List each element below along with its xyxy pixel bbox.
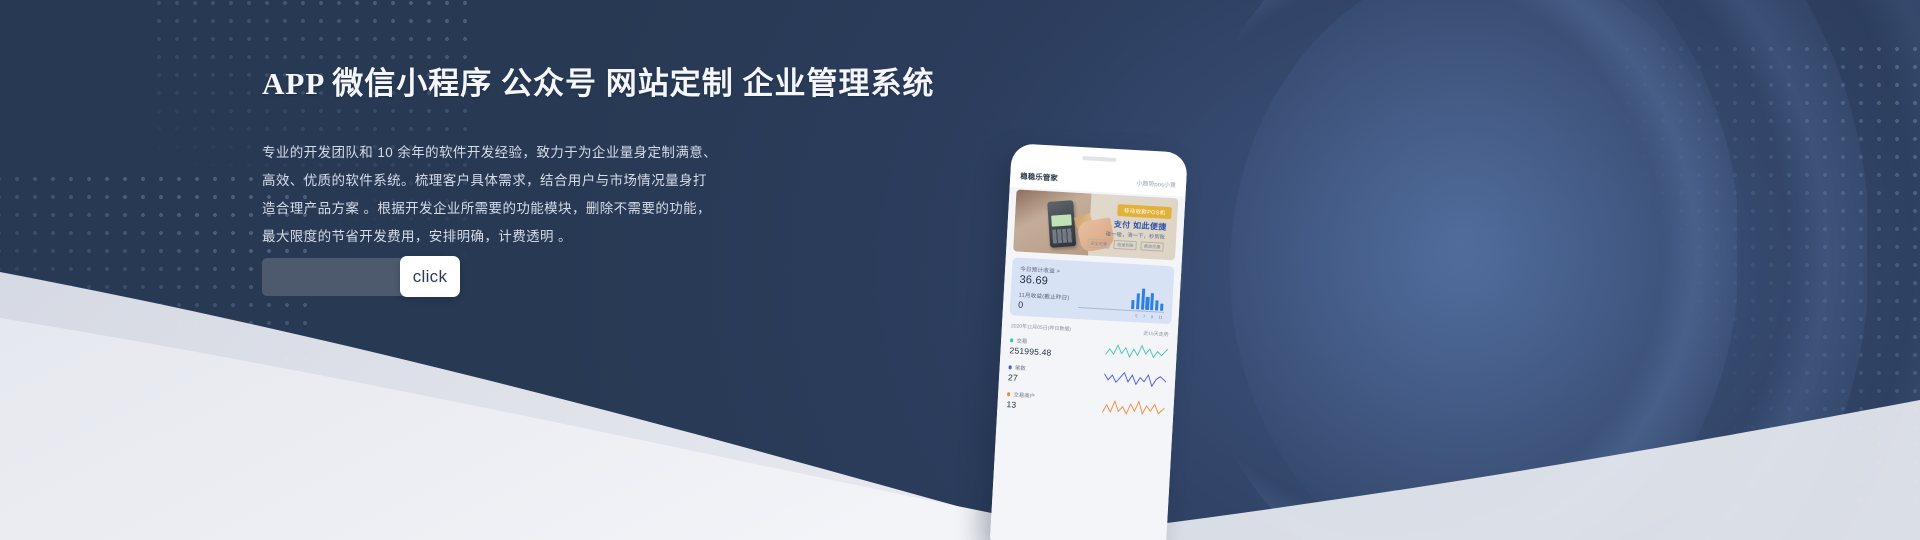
hero-description-line: 最大限度的节省开发费用，安排明确，计费透明 。 <box>262 223 962 251</box>
phone-speaker <box>1082 156 1116 162</box>
mini-chart-axis: 5 7 9 11 <box>1135 313 1163 320</box>
hero-banner: APP 微信小程序 公众号 网站定制 企业管理系统 专业的开发团队和 10 余年… <box>0 0 1920 540</box>
axis-tick: 7 <box>1143 314 1146 319</box>
app-title: 稳稳乐管家 <box>1020 171 1058 184</box>
banner-chip: 安全可靠 <box>1087 238 1110 248</box>
legend-dot-icon <box>1009 366 1013 370</box>
hero-content: APP 微信小程序 公众号 网站定制 企业管理系统 专业的开发团队和 10 余年… <box>262 58 962 251</box>
trend-label: 交易 <box>1016 337 1027 346</box>
promo-banner[interactable]: 移动收款POS机 支付 如此便捷 碰一碰，滴一下，秒到账 安全可靠 极速到账 费… <box>1013 189 1178 260</box>
phone-screen: 稳稳乐管家 小趋势pos小黄 移动收款POS机 支付 如此便捷 碰一碰，滴一下，… <box>990 163 1187 540</box>
trend-label: 笔数 <box>1015 364 1026 373</box>
click-button[interactable]: click <box>400 256 460 297</box>
pos-keypad <box>1052 228 1073 243</box>
sparkline-count <box>1104 368 1167 392</box>
axis-tick: 9 <box>1151 314 1154 319</box>
hero-description: 专业的开发团队和 10 余年的软件开发经验，致力于为企业量身定制满意、 高效、优… <box>262 139 962 251</box>
legend-dot-icon <box>1007 392 1011 396</box>
mini-bar-chart <box>1131 288 1164 311</box>
earnings-card[interactable]: 今日预计收益 > 36.69 11月收益(截止昨日) 0 5 7 9 11 <box>1010 257 1175 324</box>
trend-name: 交易商户 <box>1007 390 1035 400</box>
trend-range-label: 近15天走势 <box>1143 330 1169 338</box>
sparkline-merchants <box>1102 395 1165 419</box>
legend-dot-icon <box>1010 339 1014 343</box>
page-title: APP 微信小程序 公众号 网站定制 企业管理系统 <box>262 58 962 103</box>
trend-name: 笔数 <box>1008 363 1026 372</box>
banner-chip: 极速到账 <box>1114 240 1137 250</box>
trend-value: 251995.48 <box>1009 345 1051 357</box>
hero-description-line: 造合理产品方案 。根据开发企业所需要的功能模块，删除不需要的功能， <box>262 195 962 223</box>
hero-description-line: 高效、优质的软件系统。梳理客户具体需求，结合用户与市场情况量身打 <box>262 167 962 195</box>
trend-date-label: 2020年11月05日(昨日数据) <box>1011 322 1072 332</box>
trend-value: 27 <box>1008 372 1026 383</box>
banner-chip: 费率优惠 <box>1141 241 1164 251</box>
trend-value: 13 <box>1006 399 1034 411</box>
trend-label: 交易商户 <box>1013 391 1035 400</box>
app-username: 小趋势pos小黄 <box>1136 178 1176 189</box>
phone-mockup: 稳稳乐管家 小趋势pos小黄 移动收款POS机 支付 如此便捷 碰一碰，滴一下，… <box>990 143 1188 540</box>
axis-tick: 5 <box>1135 313 1138 318</box>
hero-description-line: 专业的开发团队和 10 余年的软件开发经验，致力于为企业量身定制满意、 <box>262 139 962 167</box>
pos-terminal-icon <box>1047 200 1076 248</box>
axis-tick: 11 <box>1158 315 1162 320</box>
pos-screen <box>1051 214 1072 226</box>
phone-body: 稳稳乐管家 小趋势pos小黄 移动收款POS机 支付 如此便捷 碰一碰，滴一下，… <box>990 143 1188 540</box>
sparkline-transactions <box>1105 341 1168 365</box>
banner-tag: 移动收款POS机 <box>1118 204 1172 219</box>
